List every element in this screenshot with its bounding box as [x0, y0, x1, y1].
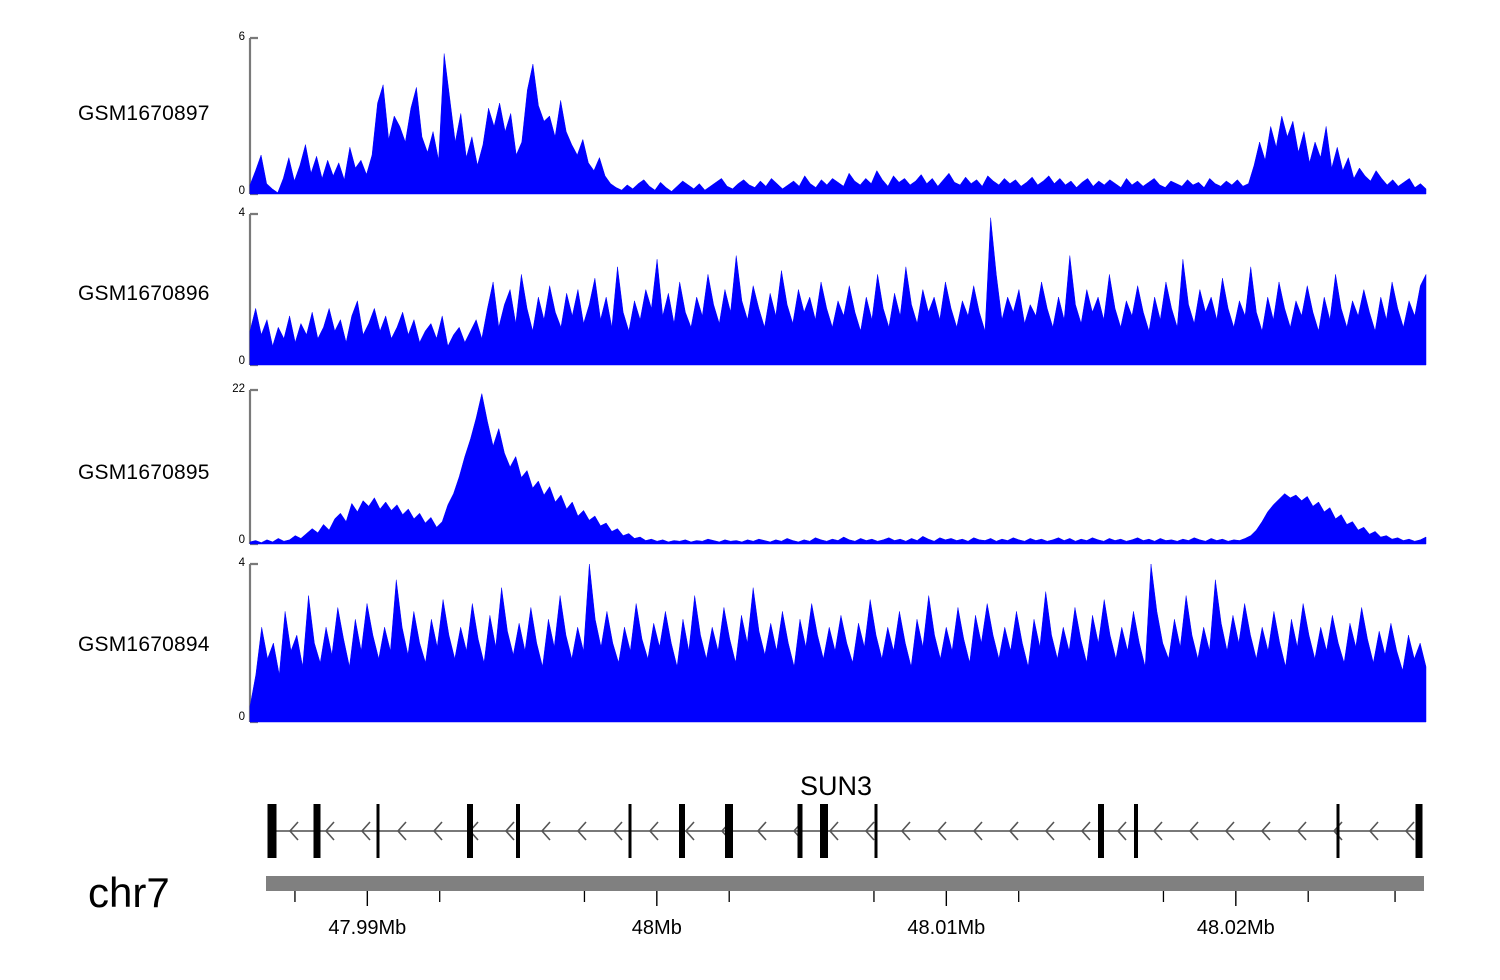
- track-1-ytick-min: 0: [215, 355, 245, 367]
- gene-exon-block: [1416, 804, 1423, 858]
- coverage-track-GSM1670897: GSM1670897 6 0: [0, 0, 1500, 200]
- track-label-1: GSM1670896: [78, 282, 210, 306]
- axis-tick-label: 48.01Mb: [866, 917, 1026, 940]
- track-0-plot[interactable]: [248, 36, 1428, 196]
- track-2-coverage-svg: [248, 388, 1428, 546]
- track-label-2: GSM1670895: [78, 461, 210, 485]
- track-3-plot[interactable]: [248, 562, 1428, 724]
- gene-exon-block: [725, 804, 733, 858]
- gene-exon-block: [875, 804, 878, 858]
- ideogram-bar: [266, 876, 1424, 891]
- gene-name-label: SUN3: [800, 771, 872, 802]
- track-3-ytick-min: 0: [215, 711, 245, 723]
- track-1-ytick-max: 4: [215, 207, 245, 219]
- track-1-area: [250, 218, 1426, 365]
- track-3-coverage-svg: [248, 562, 1428, 724]
- track-2-area: [250, 394, 1426, 545]
- gene-exon-block: [1337, 804, 1340, 858]
- axis-tick-label: 47.99Mb: [287, 917, 447, 940]
- gene-exon-block: [377, 804, 380, 858]
- gene-exon-block: [1134, 804, 1138, 858]
- genome-axis-track[interactable]: [250, 876, 1440, 906]
- track-2-axis-line: [250, 390, 258, 544]
- axis-tick-label: 48Mb: [577, 917, 737, 940]
- track-label-0: GSM1670897: [78, 102, 210, 126]
- genome-browser-view: GSM1670897 6 0 GSM1670896 4 0 GSM1670895…: [0, 0, 1500, 980]
- track-label-3: GSM1670894: [78, 633, 210, 657]
- track-1-coverage-svg: [248, 212, 1428, 367]
- track-1-plot[interactable]: [248, 212, 1428, 367]
- gene-exon-block: [820, 804, 828, 858]
- gene-exon-block: [467, 804, 473, 858]
- gene-model-svg: [250, 800, 1440, 862]
- track-3-ytick-max: 4: [215, 557, 245, 569]
- track-0-ytick-max: 6: [215, 31, 245, 43]
- track-0-ytick-min: 0: [215, 185, 245, 197]
- genome-axis-svg: [250, 876, 1440, 906]
- track-2-plot[interactable]: [248, 388, 1428, 546]
- track-0-coverage-svg: [248, 36, 1428, 196]
- gene-model-track[interactable]: [250, 800, 1440, 862]
- track-0-area: [250, 54, 1426, 194]
- coverage-track-GSM1670896: GSM1670896 4 0: [0, 202, 1500, 377]
- coverage-track-GSM1670894: GSM1670894 4 0: [0, 553, 1500, 733]
- gene-exon-block: [679, 804, 685, 858]
- track-2-ytick-min: 0: [208, 534, 245, 546]
- gene-exon-block: [516, 804, 520, 858]
- gene-exon-block: [314, 804, 321, 858]
- gene-exon-block: [268, 804, 277, 858]
- gene-exon-block: [798, 804, 803, 858]
- track-2-ytick-max: 22: [208, 383, 245, 395]
- chromosome-label: chr7: [88, 869, 170, 917]
- coverage-track-GSM1670895: GSM1670895 22 0: [0, 378, 1500, 553]
- gene-exon-block: [629, 804, 632, 858]
- axis-tick-label: 48.02Mb: [1156, 917, 1316, 940]
- track-3-area: [250, 564, 1426, 722]
- gene-exon-block: [1098, 804, 1104, 858]
